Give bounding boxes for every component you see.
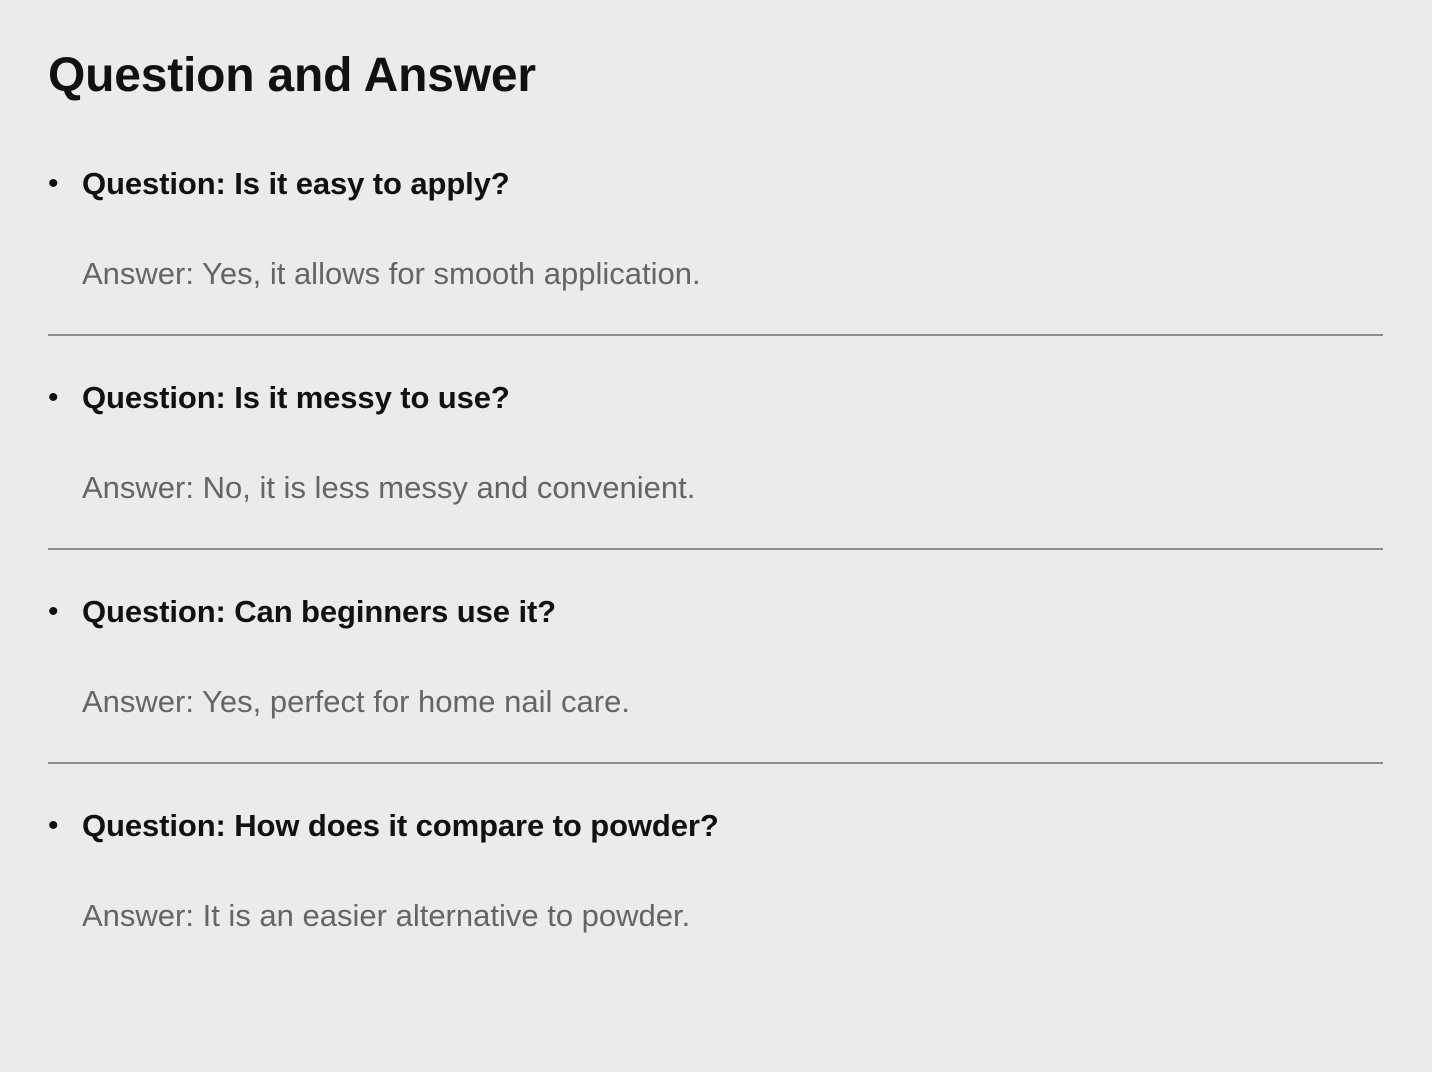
qa-question-text: Question: How does it compare to powder? bbox=[82, 802, 1432, 850]
qa-answer-text: Answer: Yes, perfect for home nail care. bbox=[0, 636, 1432, 722]
qa-spacer bbox=[0, 550, 1432, 588]
qa-question-row: • Question: Is it easy to apply? bbox=[0, 160, 1432, 208]
qa-question-text: Question: Is it messy to use? bbox=[82, 374, 1432, 422]
qa-item: • Question: Is it messy to use? Answer: … bbox=[0, 374, 1432, 588]
page-title: Question and Answer bbox=[48, 46, 536, 106]
qa-spacer bbox=[0, 336, 1432, 374]
qa-item: • Question: Can beginners use it? Answer… bbox=[0, 588, 1432, 802]
bullet-icon: • bbox=[48, 802, 82, 850]
bullet-icon: • bbox=[48, 588, 82, 636]
bullet-icon: • bbox=[48, 374, 82, 422]
qa-list: • Question: Is it easy to apply? Answer:… bbox=[0, 160, 1432, 936]
qa-answer-text: Answer: It is an easier alternative to p… bbox=[0, 850, 1432, 936]
qa-answer-text: Answer: No, it is less messy and conveni… bbox=[0, 422, 1432, 508]
qa-question-text: Question: Can beginners use it? bbox=[82, 588, 1432, 636]
qa-question-text: Question: Is it easy to apply? bbox=[82, 160, 1432, 208]
qa-question-row: • Question: Can beginners use it? bbox=[0, 588, 1432, 636]
qa-page: Question and Answer • Question: Is it ea… bbox=[0, 0, 1432, 1072]
bullet-icon: • bbox=[48, 160, 82, 208]
qa-item: • Question: How does it compare to powde… bbox=[0, 802, 1432, 936]
qa-item: • Question: Is it easy to apply? Answer:… bbox=[0, 160, 1432, 374]
qa-spacer bbox=[0, 764, 1432, 802]
qa-question-row: • Question: Is it messy to use? bbox=[0, 374, 1432, 422]
qa-question-row: • Question: How does it compare to powde… bbox=[0, 802, 1432, 850]
qa-answer-text: Answer: Yes, it allows for smooth applic… bbox=[0, 208, 1432, 294]
